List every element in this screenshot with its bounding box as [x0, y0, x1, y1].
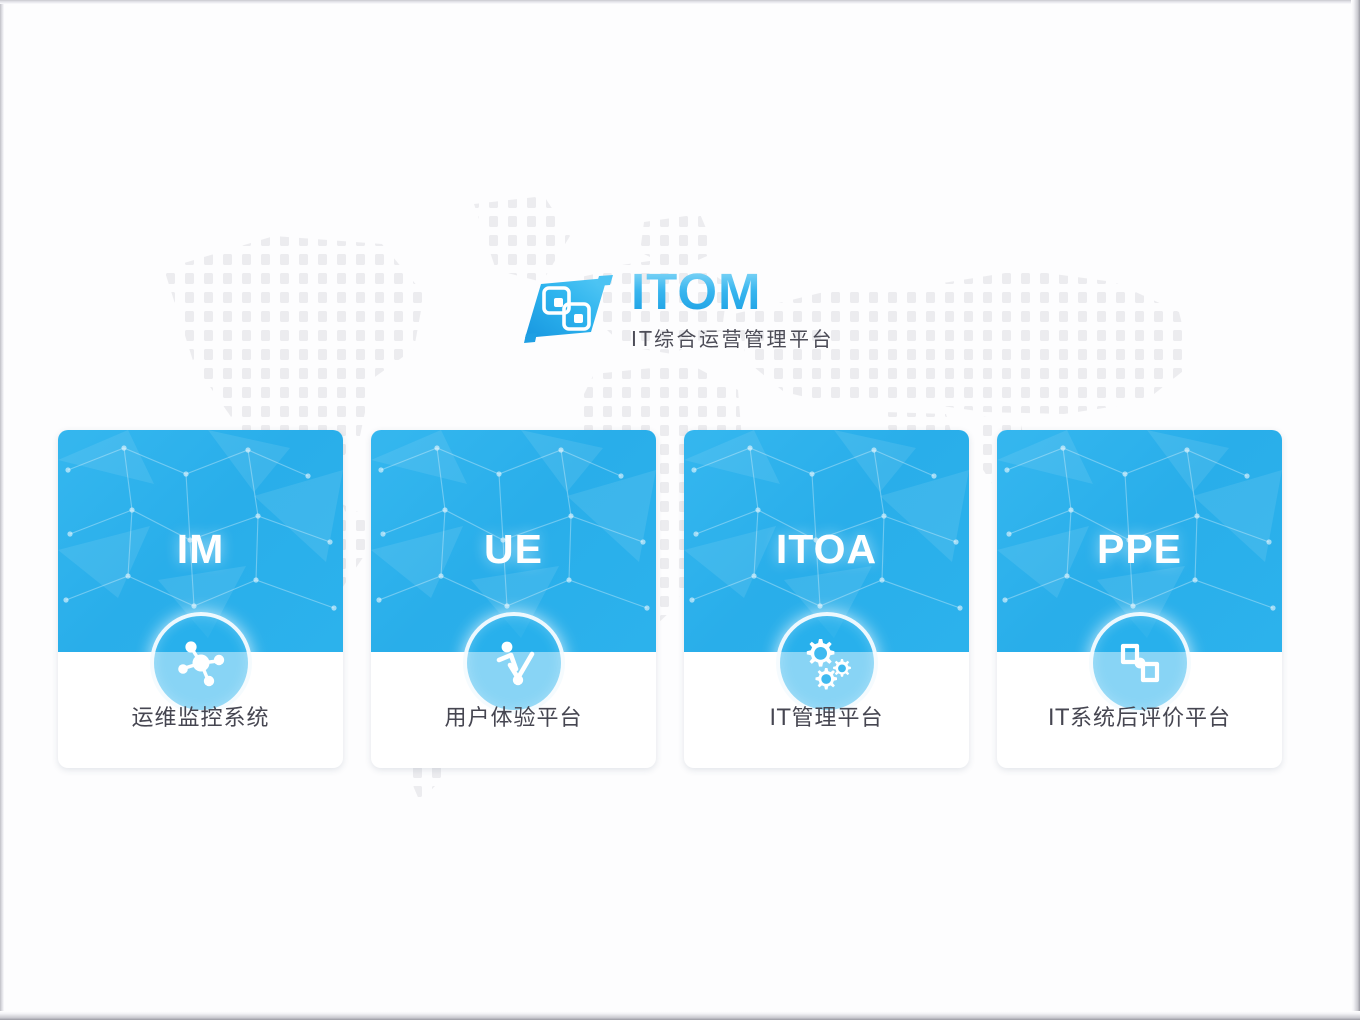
user-experience-check-icon — [463, 612, 565, 714]
card-code-itoa: ITOA — [684, 526, 969, 573]
platform-card-ue[interactable]: UE 用户体验平台 — [371, 430, 656, 768]
brand-subtitle: IT综合运营管理平台 — [631, 323, 834, 352]
gears-icon — [776, 612, 878, 714]
slide-stage: ITOM IT综合运营管理平台 — [0, 0, 1360, 1020]
card-label-itoa: IT管理平台 — [684, 700, 969, 732]
molecule-network-icon — [150, 612, 252, 714]
frame-edge-right — [1351, 0, 1360, 1020]
brand-title: ITOM — [631, 266, 834, 317]
card-label-im: 运维监控系统 — [58, 700, 343, 732]
platform-card-ppe[interactable]: PPE IT系统后评价平台 — [997, 430, 1282, 768]
platform-card-itoa[interactable]: ITOA — [684, 430, 969, 768]
platform-card-row: IM — [58, 430, 1288, 768]
card-code-im: IM — [58, 526, 343, 573]
platform-card-im[interactable]: IM — [58, 430, 343, 768]
frame-edge-bottom — [0, 1011, 1360, 1020]
itom-logo-icon — [521, 274, 617, 344]
slide-canvas: ITOM IT综合运营管理平台 — [4, 4, 1351, 1011]
card-code-ppe: PPE — [997, 526, 1282, 573]
card-code-ue: UE — [371, 526, 656, 573]
brand-header: ITOM IT综合运营管理平台 — [4, 266, 1351, 352]
card-label-ppe: IT系统后评价平台 — [997, 700, 1282, 732]
card-label-ue: 用户体验平台 — [371, 700, 656, 732]
linked-squares-icon — [1089, 612, 1191, 714]
